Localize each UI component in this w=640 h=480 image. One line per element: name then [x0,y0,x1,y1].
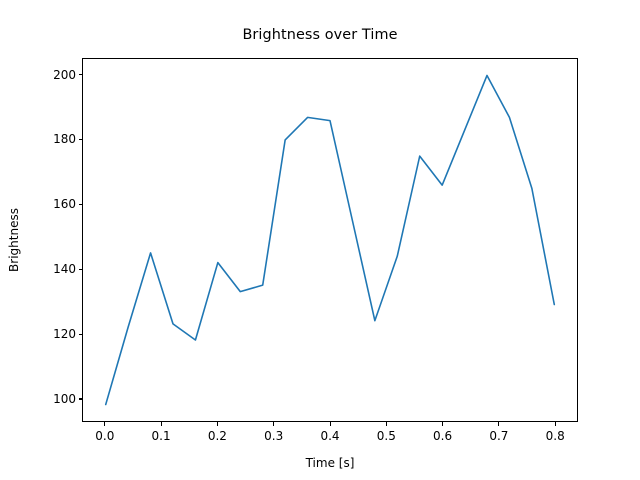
x-tick-mark [330,422,331,426]
x-tick-label: 0.2 [187,430,247,442]
y-tick-mark [79,398,83,399]
y-tick-mark [79,74,83,75]
y-tick-label: 100 [30,393,76,405]
x-tick-label: 0.8 [525,430,585,442]
y-tick-mark [79,139,83,140]
x-tick-label: 0.1 [131,430,191,442]
x-tick-mark [273,422,274,426]
matplotlib-figure: Brightness over Time 100120140160180200 … [0,0,640,480]
line-series-brightness [83,59,577,421]
x-tick-mark [442,422,443,426]
x-tick-mark [498,422,499,426]
y-tick-label: 180 [30,133,76,145]
x-tick-mark [217,422,218,426]
y-tick-mark [79,269,83,270]
y-tick-label: 140 [30,263,76,275]
x-tick-label: 0.0 [75,430,135,442]
y-axis-label: Brightness [7,208,21,272]
plot-area [82,58,578,422]
y-tick-mark [79,334,83,335]
x-tick-label: 0.6 [413,430,473,442]
x-tick-label: 0.3 [244,430,304,442]
x-tick-label: 0.4 [300,430,360,442]
x-tick-mark [555,422,556,426]
y-tick-label: 120 [30,328,76,340]
x-tick-label: 0.7 [469,430,529,442]
brightness-polyline [106,75,555,404]
x-tick-label: 0.5 [356,430,416,442]
y-tick-label: 160 [30,198,76,210]
y-tick-mark [79,204,83,205]
chart-title: Brightness over Time [0,27,640,43]
x-tick-mark [104,422,105,426]
x-tick-mark [386,422,387,426]
x-axis-label: Time [s] [82,456,578,470]
y-tick-label: 200 [30,69,76,81]
x-tick-mark [161,422,162,426]
